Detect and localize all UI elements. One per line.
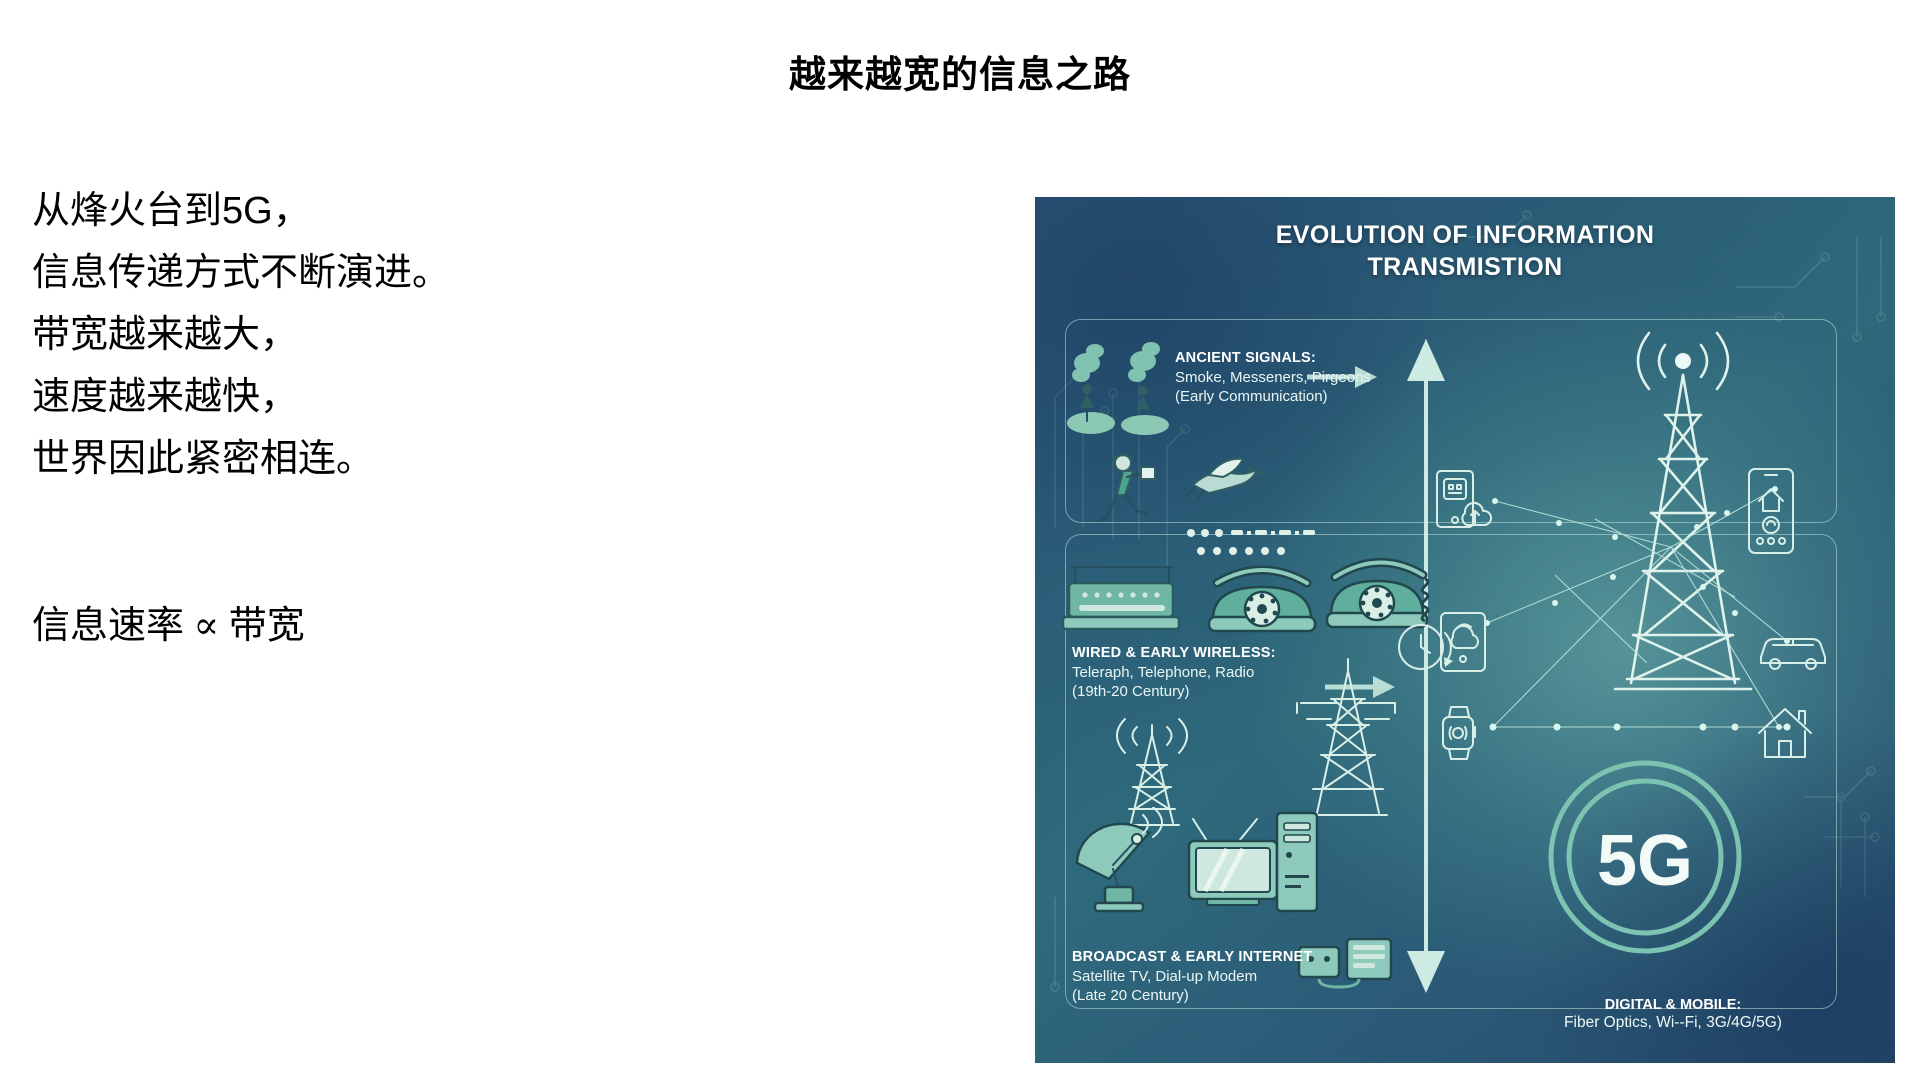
pigeon-icon bbox=[1183, 445, 1269, 515]
body-text-block: 从烽火台到5G， 信息传递方式不断演进。 带宽越来越大， 速度越来越快， 世界因… bbox=[32, 180, 672, 490]
running-messenger-icon bbox=[1083, 449, 1169, 535]
wired-heading: WIRED & EARLY WIRELESS: bbox=[1072, 645, 1342, 661]
body-line-1: 从烽火台到5G， bbox=[32, 180, 672, 242]
broadcast-line-1: Satellite TV, Dial-up Modem bbox=[1072, 967, 1352, 986]
house-icon bbox=[1755, 705, 1815, 761]
infographic-title: EVOLUTION OF INFORMATION TRANSMISTION bbox=[1035, 219, 1895, 283]
body-line-2: 信息传递方式不断演进。 bbox=[32, 242, 672, 304]
body-line-5: 世界因此紧密相连。 bbox=[32, 428, 672, 490]
desktop-pc-icon bbox=[1273, 809, 1321, 915]
body-line-3: 带宽越来越大， bbox=[32, 304, 672, 366]
fiveg-circle-badge: 5G bbox=[1545, 757, 1745, 957]
ancient-line-2: (Early Communication) bbox=[1175, 387, 1435, 406]
body-line-4: 速度越来越快， bbox=[32, 366, 672, 428]
formula-text: 信息速率 ∝ 带宽 bbox=[32, 594, 305, 649]
car-icon bbox=[1757, 627, 1829, 671]
text-block-wired-wireless: WIRED & EARLY WIRELESS: Teleraph, Teleph… bbox=[1072, 645, 1342, 701]
wired-line-1: Teleraph, Telephone, Radio bbox=[1072, 663, 1342, 682]
smoke-signal-icon bbox=[1065, 337, 1175, 437]
infographic-title-line-1: EVOLUTION OF INFORMATION bbox=[1035, 219, 1895, 251]
fiveg-circle-label: 5G bbox=[1597, 821, 1693, 901]
smartwatch-icon bbox=[1435, 705, 1483, 761]
clock-icon bbox=[1389, 617, 1465, 677]
text-block-broadcast-internet: BROADCAST & EARLY INTERNET Satellite TV,… bbox=[1072, 949, 1352, 1005]
infographic-title-line-2: TRANSMISTION bbox=[1035, 251, 1895, 283]
text-block-ancient-signals: ANCIENT SIGNALS: Smoke, Messeners, Pirge… bbox=[1175, 350, 1435, 406]
slide-page: 越来越宽的信息之路 从烽火台到5G， 信息传递方式不断演进。 带宽越来越大， 速… bbox=[0, 0, 1920, 1080]
broadcast-line-2: (Late 20 Century) bbox=[1072, 986, 1352, 1005]
wired-line-2: (19th-20 Century) bbox=[1072, 682, 1342, 701]
broadcast-heading: BROADCAST & EARLY INTERNET bbox=[1072, 949, 1352, 965]
ancient-heading: ANCIENT SIGNALS: bbox=[1175, 350, 1435, 366]
satellite-dish-icon bbox=[1067, 807, 1177, 917]
tablet-cloud-icon bbox=[1435, 469, 1495, 537]
page-title: 越来越宽的信息之路 bbox=[0, 44, 1920, 98]
smartphone-home-icon bbox=[1747, 467, 1795, 555]
crt-tv-icon bbox=[1183, 815, 1283, 915]
telegraph-icon bbox=[1057, 555, 1187, 635]
digital-heading: DIGITAL & MOBILE: bbox=[1453, 997, 1893, 1013]
infographic-image: EVOLUTION OF INFORMATION TRANSMISTION AN… bbox=[1035, 197, 1895, 1063]
digital-line-1: Fiber Optics, Wi--Fi, 3G/4G/5G) bbox=[1453, 1013, 1893, 1033]
ancient-line-1: Smoke, Messeners, Pirgeons bbox=[1175, 368, 1435, 387]
text-block-digital-mobile: DIGITAL & MOBILE: Fiber Optics, Wi--Fi, … bbox=[1453, 997, 1893, 1033]
rotary-phone-icon bbox=[1203, 549, 1321, 639]
